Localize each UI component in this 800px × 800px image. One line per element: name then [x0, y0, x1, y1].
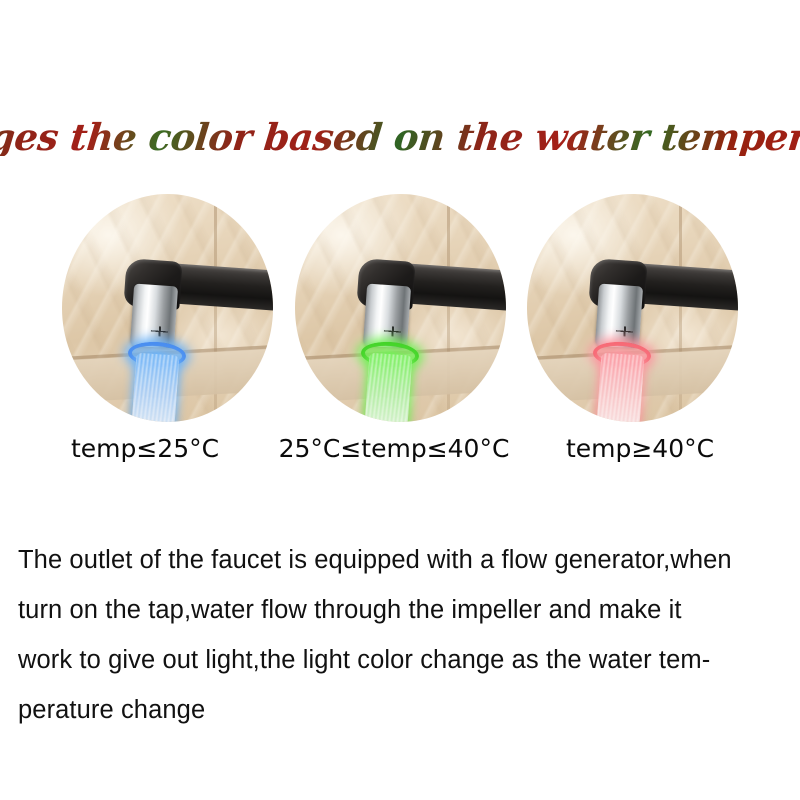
faucet-head-marking	[150, 326, 168, 337]
caption-temp-warm: 25°C≤temp≤40°C	[254, 434, 534, 463]
water-stream	[362, 352, 412, 422]
led-faucet-head	[363, 284, 411, 349]
faucet-head-marking	[615, 326, 633, 337]
bathroom-tile-background	[295, 194, 506, 422]
water-stream	[594, 352, 644, 422]
product-photo-hot	[508, 193, 748, 425]
led-faucet-head	[595, 284, 643, 349]
caption-temp-cold: temp≤25°C	[5, 434, 285, 463]
bathroom-tile-background	[527, 194, 738, 422]
description-line-1: The outlet of the faucet is equipped wit…	[18, 535, 786, 585]
page-title: Changes the color based on the water tem…	[0, 119, 800, 156]
product-photo-warm	[276, 193, 516, 425]
description-line-4: perature change	[18, 685, 786, 735]
bathroom-tile-background	[62, 194, 273, 422]
headline-banner: Changes the color based on the water tem…	[0, 104, 800, 170]
caption-temp-hot: temp≥40°C	[500, 434, 780, 463]
faucet-head-marking	[383, 326, 401, 337]
description-line-2: turn on the tap,water flow through the i…	[18, 585, 786, 635]
water-stream	[129, 352, 179, 422]
description-line-3: work to give out light,the light color c…	[18, 635, 786, 685]
product-photo-cold	[43, 193, 283, 425]
temperature-caption-row: temp≤25°C 25°C≤temp≤40°C temp≥40°C	[0, 434, 800, 474]
led-faucet-head	[130, 284, 178, 349]
description-paragraph: The outlet of the faucet is equipped wit…	[18, 535, 786, 735]
product-photo-row	[0, 193, 800, 425]
